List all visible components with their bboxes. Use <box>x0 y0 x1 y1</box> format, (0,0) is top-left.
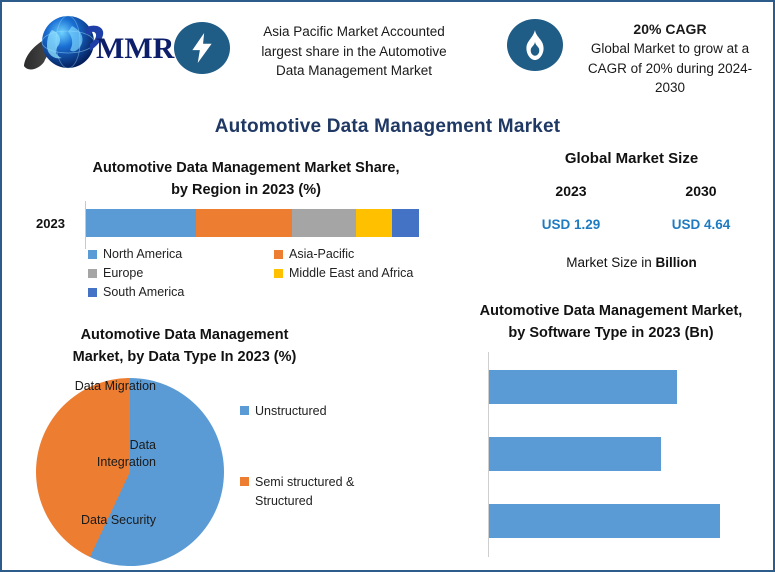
legend-label: Asia-Pacific <box>289 247 354 261</box>
gms-footnote-prefix: Market Size in <box>566 255 655 270</box>
region-segment-europe <box>292 209 355 237</box>
badge1-line1: Asia Pacific Market Accounted <box>238 22 470 42</box>
legend-swatch-icon <box>88 250 97 259</box>
legend-item-north-america: North America <box>88 247 274 261</box>
badge2-line1: Global Market to grow at a <box>567 39 773 59</box>
bar-label-line: Data Migration <box>6 378 156 395</box>
badge-asia-pacific: Asia Pacific Market Accounted largest sh… <box>174 22 474 80</box>
legend-item-middle-east-africa: Middle East and Africa <box>274 266 460 280</box>
region-share-stacked-bar <box>86 209 419 237</box>
region-segment-south-america <box>392 209 419 237</box>
bar-label-data-migration: Data Migration <box>6 378 156 395</box>
bar-data-integration <box>489 437 661 471</box>
badge1-line3: Data Management Market <box>238 61 470 81</box>
lightning-bolt-icon <box>174 22 230 74</box>
software-type-bar-chart: Automotive Data Management Market, by So… <box>442 300 772 570</box>
legend-swatch-icon <box>240 477 249 486</box>
badge2-headline: 20% CAGR <box>567 19 773 39</box>
legend-item-south-america: South America <box>88 285 274 299</box>
page-title: Automotive Data Management Market <box>2 116 773 138</box>
pie-legend: Unstructured Semi structured & Structure… <box>240 402 440 510</box>
region-share-title: Automotive Data Management Market Share,… <box>16 157 476 202</box>
pie-graphic <box>36 378 224 566</box>
gms-footnote: Market Size in Billion <box>494 255 769 270</box>
gms-value-2023: USD 1.29 <box>516 217 626 232</box>
bar-label-line: Data <box>6 437 156 454</box>
gms-year-2023: 2023 <box>516 183 626 199</box>
globe-icon: MMR <box>16 8 176 84</box>
pie-legend-label-line1: Semi structured & <box>255 475 354 489</box>
logo-text: MMR <box>96 32 175 65</box>
badge-asia-pacific-text: Asia Pacific Market Accounted largest sh… <box>238 22 470 81</box>
legend-row: South America <box>88 285 468 299</box>
badge2-line2: CAGR of 20% during 2024- <box>567 59 773 79</box>
pie-legend-item-unstructured: Unstructured <box>240 402 440 421</box>
legend-label: Middle East and Africa <box>289 266 413 280</box>
legend-item-europe: Europe <box>88 266 274 280</box>
legend-label: South America <box>103 285 184 299</box>
global-market-size-title: Global Market Size <box>494 150 769 167</box>
pie-legend-label-wrap: Semi structured & Structured <box>255 473 354 511</box>
legend-row: North America Asia-Pacific <box>88 247 468 261</box>
badge-cagr-text: 20% CAGR Global Market to grow at a CAGR… <box>567 19 773 98</box>
pie-legend-label: Unstructured <box>255 402 327 421</box>
pie-chart-title: Automotive Data Management Market, by Da… <box>12 324 357 369</box>
legend-swatch-icon <box>88 288 97 297</box>
software-title-line1: Automotive Data Management Market, <box>452 300 770 322</box>
legend-swatch-icon <box>240 406 249 415</box>
bar-label-line: Integration <box>6 454 156 471</box>
mmr-logo: MMR <box>16 8 176 84</box>
legend-row: Europe Middle East and Africa <box>88 266 468 280</box>
region-share-legend: North America Asia-Pacific Europe Middle… <box>88 247 468 304</box>
region-segment-asia-pacific <box>196 209 293 237</box>
region-segment-north-america <box>86 209 196 237</box>
legend-label: North America <box>103 247 182 261</box>
infographic-root: MMR Asia Pacific Market Accounted larges… <box>0 0 775 572</box>
badge-cagr: 20% CAGR Global Market to grow at a CAGR… <box>507 19 773 91</box>
global-market-size-panel: Global Market Size 2023 2030 USD 1.29 US… <box>494 150 769 290</box>
software-type-title: Automotive Data Management Market, by So… <box>452 300 770 345</box>
legend-swatch-icon <box>274 269 283 278</box>
gms-year-2030: 2030 <box>646 183 756 199</box>
bar-data-security <box>489 504 720 538</box>
region-segment-middle-east-africa <box>356 209 393 237</box>
legend-label: Europe <box>103 266 143 280</box>
legend-swatch-icon <box>88 269 97 278</box>
pie-legend-item-semi-structured: Semi structured & Structured <box>240 473 440 511</box>
badge1-line2: largest share in the Automotive <box>238 42 470 62</box>
gms-footnote-unit: Billion <box>656 255 697 270</box>
header-bar: MMR Asia Pacific Market Accounted larges… <box>2 2 773 94</box>
region-share-chart: Automotive Data Management Market Share,… <box>16 157 476 317</box>
legend-swatch-icon <box>274 250 283 259</box>
bar-data-migration <box>489 370 677 404</box>
gms-value-2030: USD 4.64 <box>646 217 756 232</box>
pie-title-line1: Automotive Data Management <box>12 324 357 346</box>
software-title-line2: by Software Type in 2023 (Bn) <box>452 322 770 344</box>
flame-icon <box>507 19 563 71</box>
pie-legend-label-line2: Structured <box>255 494 313 508</box>
badge2-line3: 2030 <box>567 78 773 98</box>
legend-item-asia-pacific: Asia-Pacific <box>274 247 460 261</box>
region-share-title-line1: Automotive Data Management Market Share, <box>16 157 476 179</box>
region-share-title-line2: by Region in 2023 (%) <box>16 179 476 201</box>
bar-label-data-security: Data Security <box>6 512 156 529</box>
bar-label-data-integration: Data Integration <box>6 437 156 471</box>
region-share-axis-label: 2023 <box>36 216 65 231</box>
pie-title-line2: Market, by Data Type In 2023 (%) <box>12 346 357 368</box>
bar-label-line: Data Security <box>6 512 156 529</box>
